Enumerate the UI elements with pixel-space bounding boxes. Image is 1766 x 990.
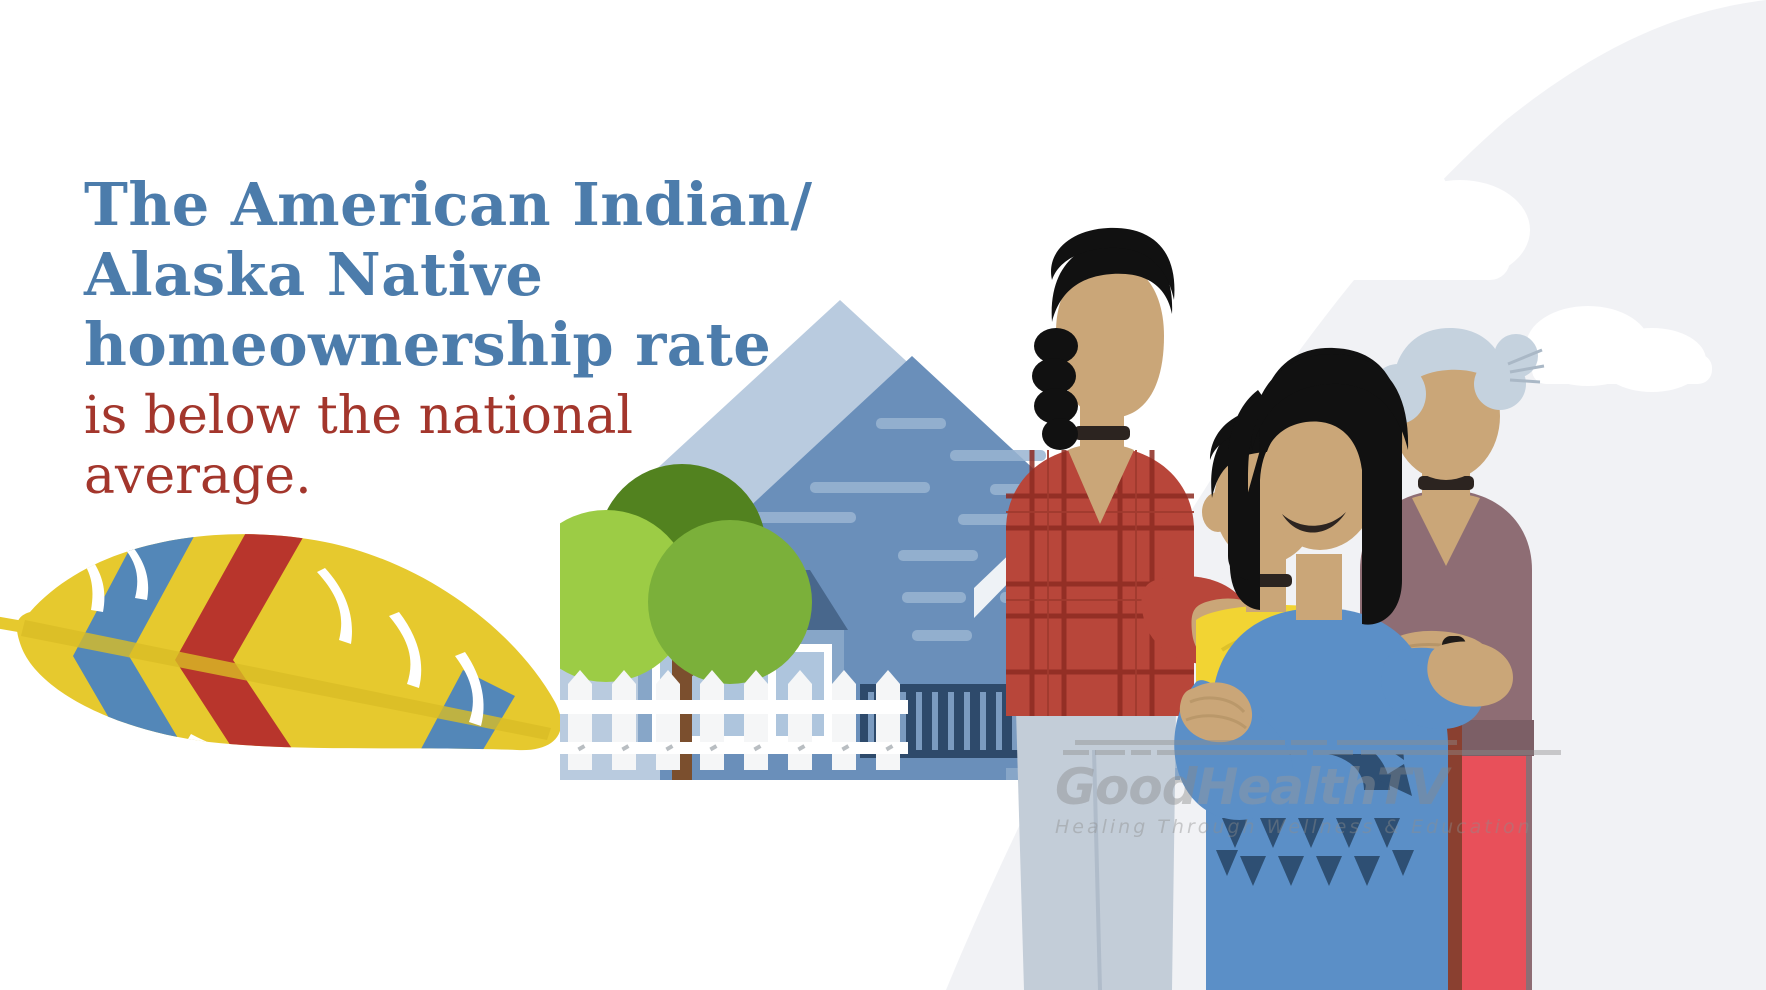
feather-body bbox=[0, 520, 585, 780]
tree-crown-mid bbox=[648, 520, 812, 684]
slide-canvas: The American Indian/ Alaska Native homeo… bbox=[0, 0, 1766, 990]
headline-blue-line-1: The American Indian/ bbox=[84, 170, 874, 240]
native-american-family bbox=[960, 150, 1600, 990]
eagle-feather-icon bbox=[0, 520, 585, 780]
father-necklace bbox=[1074, 426, 1130, 440]
